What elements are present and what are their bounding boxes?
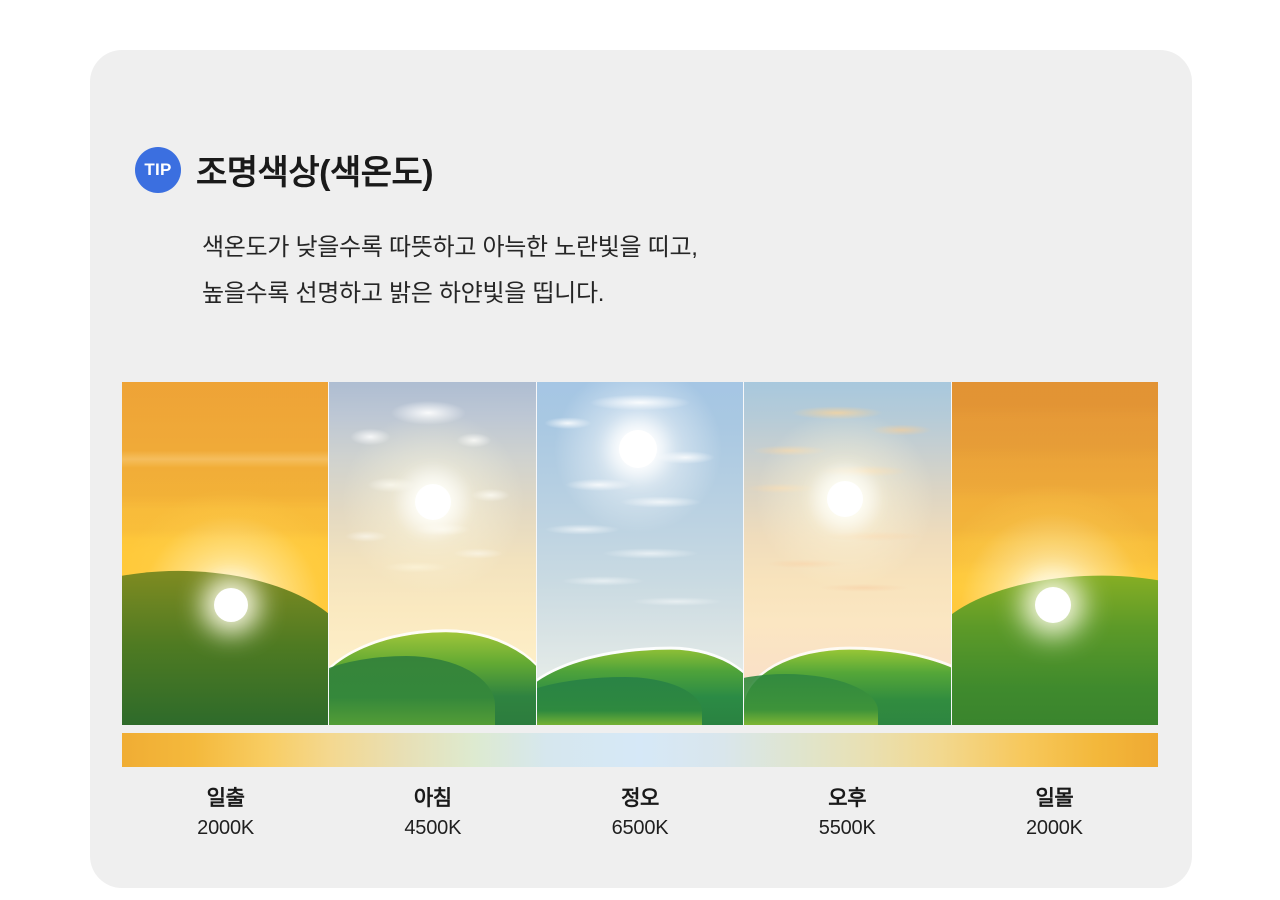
afternoon-sun-icon	[827, 481, 863, 517]
description-line-1: 색온도가 낮을수록 따뜻하고 아늑한 노란빛을 띠고,	[202, 225, 698, 271]
label-kelvin-afternoon: 5500K	[744, 813, 951, 843]
panel-afternoon	[744, 382, 951, 725]
sunset-sun-icon	[1035, 587, 1071, 623]
panel-morning	[329, 382, 536, 725]
tip-card: TIP 조명색상(색온도) 색온도가 낮을수록 따뜻하고 아늑한 노란빛을 띠고…	[90, 50, 1192, 888]
label-kelvin-sunset: 2000K	[951, 813, 1158, 843]
card-header: TIP 조명색상(색온도)	[135, 145, 433, 194]
label-kelvin-sunrise: 2000K	[122, 813, 329, 843]
label-cell-sunrise: 일출 2000K	[122, 785, 329, 843]
morning-sun-icon	[415, 484, 451, 520]
label-name-morning: 아침	[329, 785, 536, 813]
label-name-sunset: 일몰	[951, 785, 1158, 813]
label-kelvin-noon: 6500K	[536, 813, 743, 843]
label-name-sunrise: 일출	[122, 785, 329, 813]
panel-sunrise	[122, 382, 329, 725]
label-kelvin-morning: 4500K	[329, 813, 536, 843]
panel-sunset	[952, 382, 1158, 725]
color-temperature-gradient-bar	[122, 733, 1158, 767]
label-name-noon: 정오	[536, 785, 743, 813]
color-temperature-image-strip	[122, 382, 1158, 725]
panel-noon	[537, 382, 744, 725]
label-cell-sunset: 일몰 2000K	[951, 785, 1158, 843]
label-cell-afternoon: 오후 5500K	[744, 785, 951, 843]
noon-sun-icon	[619, 430, 657, 468]
description-line-2: 높을수록 선명하고 밝은 하얀빛을 띱니다.	[202, 271, 698, 317]
page-title: 조명색상(색온도)	[196, 145, 433, 194]
tip-badge: TIP	[135, 147, 181, 193]
page-root: TIP 조명색상(색온도) 색온도가 낮을수록 따뜻하고 아늑한 노란빛을 띠고…	[0, 0, 1280, 900]
label-cell-morning: 아침 4500K	[329, 785, 536, 843]
description-text: 색온도가 낮을수록 따뜻하고 아늑한 노란빛을 띠고, 높을수록 선명하고 밝은…	[202, 225, 698, 317]
color-temperature-labels: 일출 2000K 아침 4500K 정오 6500K 오후 5500K 일몰 2…	[122, 785, 1158, 843]
label-cell-noon: 정오 6500K	[536, 785, 743, 843]
label-name-afternoon: 오후	[744, 785, 951, 813]
